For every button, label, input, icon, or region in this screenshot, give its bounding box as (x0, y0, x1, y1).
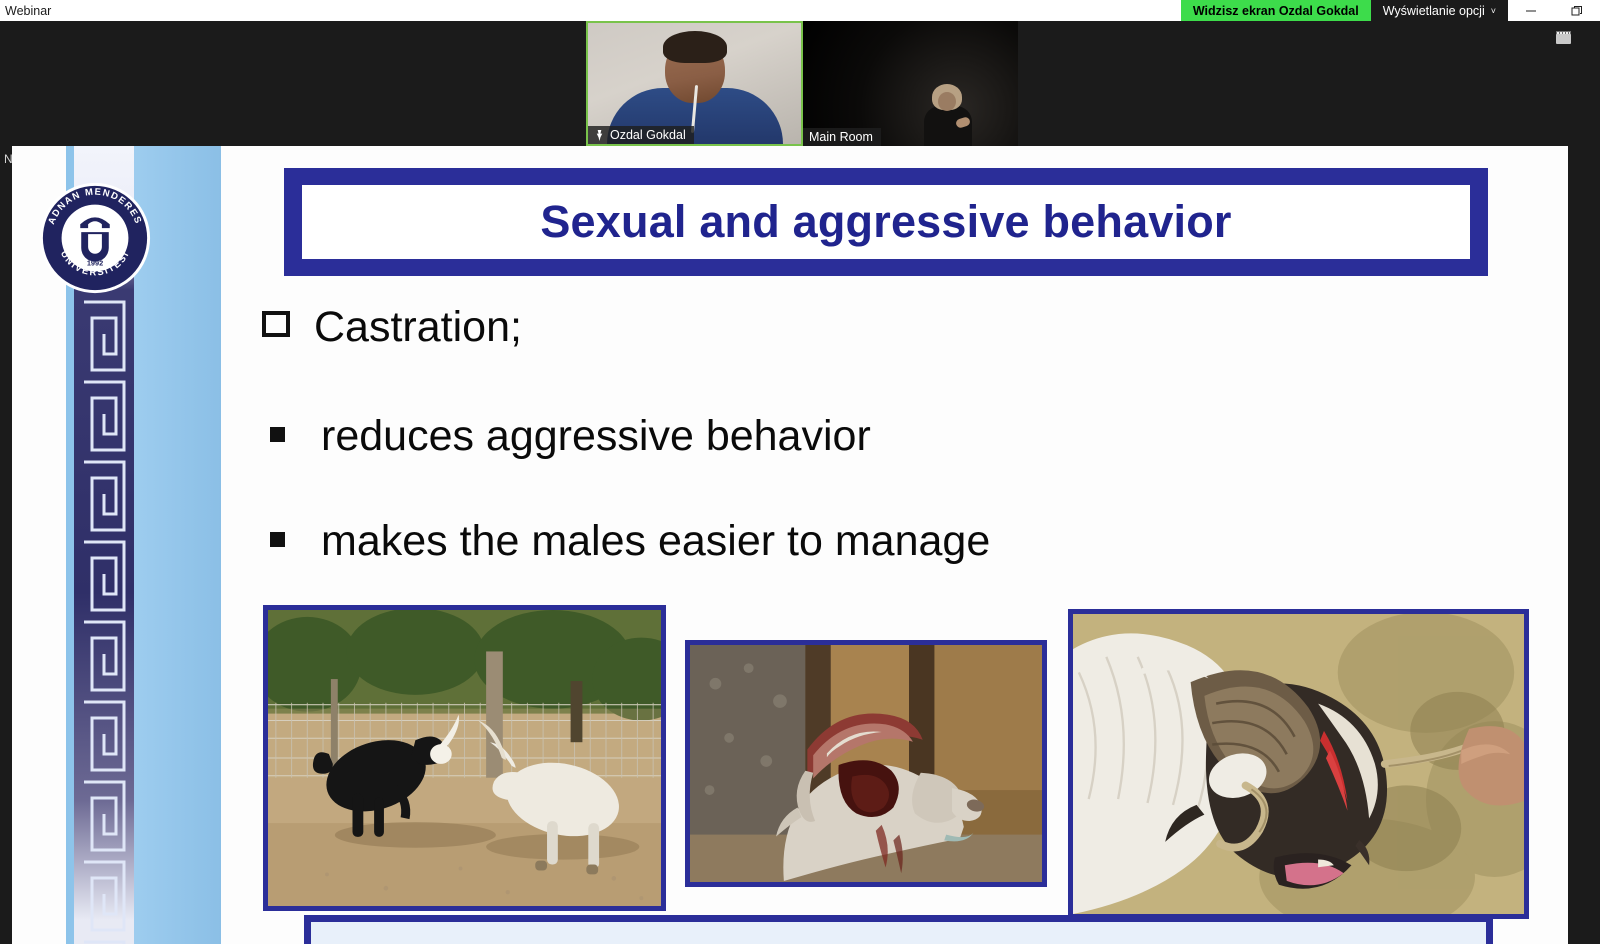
list-item: makes the males easier to manage (262, 520, 1482, 563)
screen-share-badge[interactable]: Widzisz ekran Ozdal Gokdal (1181, 0, 1371, 21)
goat-head-wound-illustration (690, 645, 1042, 882)
video-tile-label-speaker: Ozdal Gokdal (588, 126, 694, 144)
speaker-name: Ozdal Gokdal (610, 128, 686, 142)
room-participant-silhouette (922, 84, 976, 146)
slide-bottom-box-partial (304, 915, 1493, 944)
bullet-text: reduces aggressive behavior (321, 415, 871, 458)
main-room-name: Main Room (809, 130, 873, 144)
pin-icon (594, 129, 605, 142)
video-tile-speaker[interactable]: Ozdal Gokdal (586, 21, 803, 146)
slide-bottom-box-inner (311, 922, 1486, 944)
restore-icon (1571, 5, 1583, 17)
window-title: Webinar (5, 4, 51, 18)
svg-text:1992: 1992 (87, 259, 103, 268)
solid-square-bullet-icon (270, 427, 285, 442)
video-thumbnail-strip: Ozdal Gokdal Main Room (586, 21, 1018, 146)
open-square-bullet-icon (262, 311, 290, 337)
page-title: Sexual and aggressive behavior (540, 196, 1231, 248)
list-item: reduces aggressive behavior (262, 415, 1482, 458)
webinar-window: Webinar Widzisz ekran Ozdal Gokdal Wyświ… (0, 0, 1600, 944)
presentation-slide: 1992 ADNAN MENDERES ÜNİVERSİTESİ Sexual … (12, 146, 1568, 944)
slide-title-inner: Sexual and aggressive behavior (302, 185, 1470, 259)
view-options-dropdown[interactable]: Wyświetlanie opcji ˅ (1371, 0, 1508, 21)
room-participant-face (938, 92, 956, 111)
bullet-text: makes the males easier to manage (321, 520, 990, 563)
video-tile-main-room[interactable]: Main Room (803, 21, 1018, 146)
slide-title-box: Sexual and aggressive behavior (284, 168, 1488, 276)
window-gallery-icon[interactable] (1556, 31, 1571, 44)
solid-square-bullet-icon (270, 532, 285, 547)
restore-button[interactable] (1554, 0, 1600, 21)
adnan-menderes-universitesi-logo: 1992 ADNAN MENDERES ÜNİVERSİTESİ (36, 179, 154, 297)
greek-key-pattern-icon (74, 296, 134, 944)
minimize-button[interactable] (1508, 0, 1554, 21)
window-controls (1508, 0, 1600, 21)
photo-goat-head-wound (685, 640, 1047, 887)
view-options-label: Wyświetlanie opcji (1383, 4, 1485, 18)
photo-goats-fighting (263, 605, 666, 911)
speaker-hair (663, 31, 727, 63)
bullet-text: Castration; (314, 306, 522, 349)
slide-bullet-list: Castration; reduces aggressive behavior … (262, 306, 1482, 625)
window-titlebar: Webinar Widzisz ekran Ozdal Gokdal Wyświ… (0, 0, 1600, 21)
ram-roped-illustration (1073, 614, 1524, 914)
video-tile-label-main-room: Main Room (803, 128, 881, 146)
minimize-icon (1525, 5, 1537, 17)
chevron-down-icon: ˅ (1491, 6, 1496, 16)
list-item: Castration; (262, 306, 1482, 349)
photo-ram-roped (1068, 609, 1529, 919)
goats-fighting-illustration (268, 610, 661, 906)
